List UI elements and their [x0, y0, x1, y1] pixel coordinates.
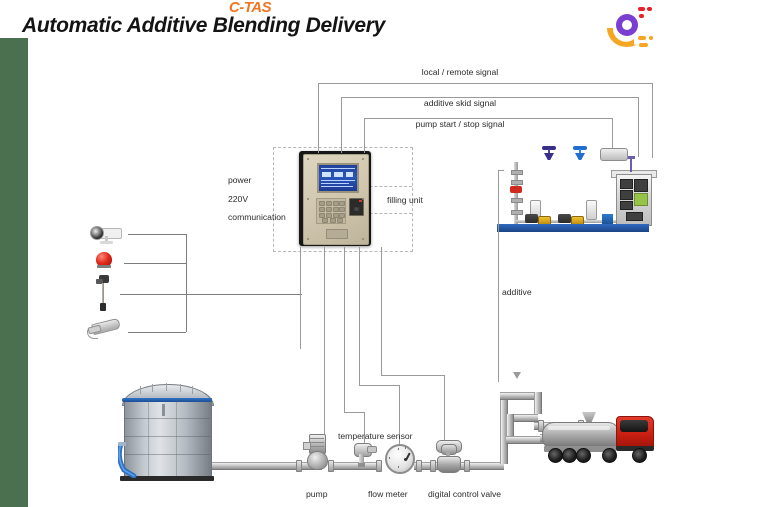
skid-base-frame	[497, 224, 649, 232]
panel-bottom-wire-ts-a	[344, 247, 345, 412]
panel-bottom-wire-ts-b	[344, 412, 364, 413]
temperature-sensor	[352, 443, 376, 469]
signal-wire-local-remote-top	[318, 83, 652, 84]
skid-status-display	[634, 193, 648, 206]
panel-bottom-wire-dcv-b	[381, 375, 444, 376]
label-pump: pump	[306, 490, 328, 499]
riser-horizontal-top	[500, 392, 538, 400]
panel-bottom-wire-1b	[300, 309, 301, 349]
reader-sensor-icon	[352, 207, 361, 211]
label-flow-meter: flow meter	[368, 490, 408, 499]
skid-shutoff-valve	[510, 186, 522, 193]
skid-control-cabinet[interactable]	[616, 174, 652, 226]
diagram-canvas: C-TAS Automatic Additive Blending Delive…	[0, 0, 768, 507]
explosion-proof-control-panel[interactable]	[299, 151, 371, 246]
signal-label-local-remote: local / remote signal	[363, 68, 557, 77]
skid-manway	[600, 148, 628, 161]
truck-windshield	[620, 420, 648, 432]
panel-bottom-wire-fm-a	[359, 247, 360, 385]
signal-wire-local-remote-right	[652, 83, 653, 158]
pump-terminal-box	[303, 442, 311, 450]
panel-card-reader[interactable]	[349, 198, 364, 216]
signal-label-pump-start-stop: pump start / stop signal	[371, 120, 549, 129]
signal-label-additive-skid: additive skid signal	[375, 99, 545, 108]
wire-clamp	[128, 332, 186, 333]
skid-antenna	[630, 156, 632, 172]
panel-top-stub-3	[364, 145, 365, 153]
skid-strainer-2	[586, 200, 597, 220]
c-tas-logo	[594, 0, 656, 52]
wire-beacon	[124, 263, 186, 264]
skid-pump-motor-1	[525, 214, 538, 223]
panel-top-stub-1	[318, 145, 319, 153]
grounding-clamp-icon	[86, 318, 128, 342]
panel-nameplate	[326, 229, 348, 239]
additive-feed-line	[498, 170, 499, 382]
page-title: Automatic Additive Blending Delivery	[22, 14, 442, 40]
panel-face	[303, 154, 369, 245]
wire-cctv	[128, 234, 186, 235]
panel-bottom-wire-dcv-c	[444, 375, 445, 443]
panel-hmi-screen[interactable]	[317, 163, 359, 193]
temperature-sensor-conduit	[367, 446, 377, 453]
label-temperature-sensor: temperature sensor	[338, 432, 413, 441]
additive-blending-skid	[494, 140, 652, 238]
wire-probe	[120, 294, 302, 295]
alarm-beacon-icon	[90, 252, 122, 272]
additive-flow-label: additive	[502, 288, 532, 297]
panel-bottom-wire-fm-b	[359, 385, 399, 386]
grounding-probe-icon	[92, 275, 120, 315]
skid-pump-motor-2	[558, 214, 571, 223]
signal-wire-pump-top	[364, 118, 612, 119]
flow-direction-arrow	[513, 372, 521, 379]
label-digital-control-valve: digital control valve	[428, 490, 501, 499]
flow-meter	[378, 444, 418, 474]
transfer-pump	[306, 434, 328, 470]
panel-keypad[interactable]	[316, 198, 346, 224]
panel-label-power: power	[228, 176, 251, 185]
frame-accent-left	[0, 38, 28, 507]
wire-left-trunk	[186, 234, 187, 332]
panel-bottom-wire-dcv-a2	[381, 335, 382, 375]
panel-label-filling-unit: filling unit	[387, 196, 423, 205]
digital-control-valve	[432, 440, 466, 474]
tank-top-rim	[122, 398, 212, 402]
panel-bottom-wire-1	[300, 247, 301, 309]
pump-casing	[307, 451, 328, 470]
signal-wire-local-remote-left	[318, 83, 319, 153]
panel-bottom-wire-dcv-a	[381, 247, 382, 335]
valve-body	[437, 456, 461, 473]
panel-label-voltage: 220V	[228, 195, 248, 204]
additive-feed-line-top	[498, 170, 504, 171]
flow-meter-dial	[385, 444, 415, 474]
bulk-storage-tank	[118, 382, 218, 486]
cctv-camera-icon	[88, 224, 128, 246]
panel-top-stub-2	[341, 145, 342, 153]
tanker-truck	[540, 410, 670, 480]
signal-wire-additive-skid-top	[341, 97, 638, 98]
tank-outlet-piping	[118, 442, 140, 478]
reader-status-led	[359, 200, 362, 202]
panel-label-communication: communication	[228, 213, 286, 222]
panel-bottom-wire-pump	[324, 247, 325, 435]
tank-gauge-hatch	[162, 404, 165, 416]
